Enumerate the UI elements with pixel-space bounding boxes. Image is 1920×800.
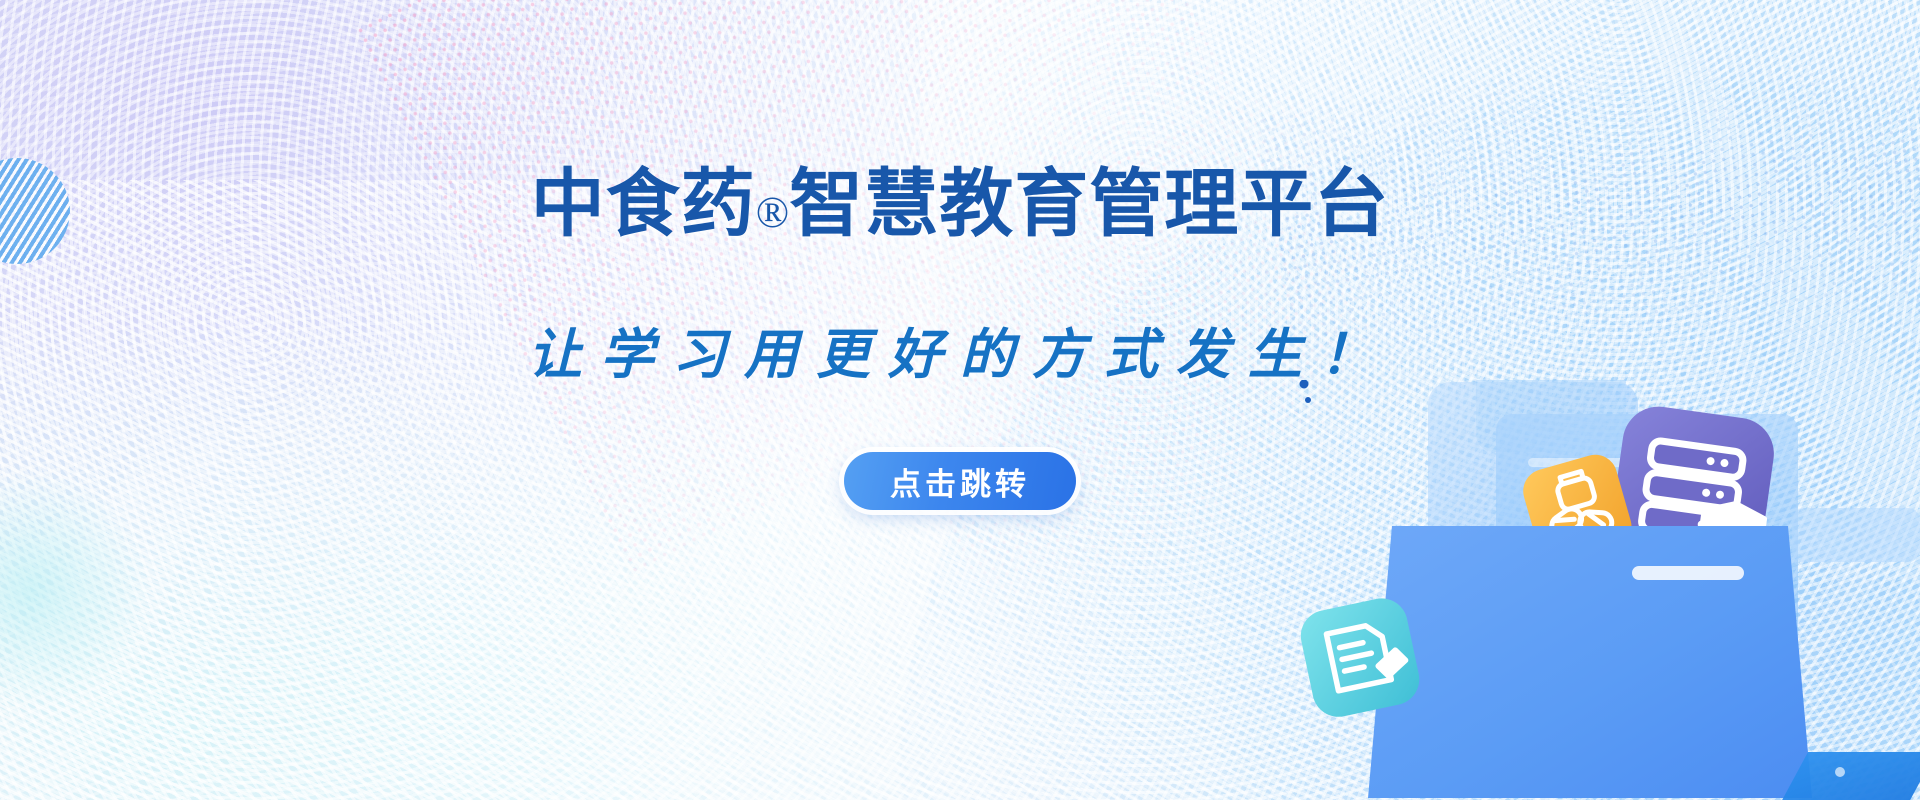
banner-title-part-2: 智慧教育管理平台	[789, 162, 1389, 245]
dot-accent	[1300, 380, 1312, 403]
hero-banner: 中食药®智慧教育管理平台 让学习用更好的方式发生！ 点击跳转	[0, 0, 1920, 800]
banner-illustration	[1280, 380, 1920, 800]
right-edge-sheet	[1792, 508, 1920, 562]
folder-front	[1368, 526, 1812, 798]
banner-subtitle: 让学习用更好的方式发生！	[0, 310, 1920, 389]
jump-button[interactable]: 点击跳转	[844, 452, 1076, 510]
banner-title-part-1: 中食药	[531, 162, 756, 245]
registered-trademark-icon: ®	[756, 188, 789, 237]
banner-title: 中食药®智慧教育管理平台	[0, 165, 1920, 243]
